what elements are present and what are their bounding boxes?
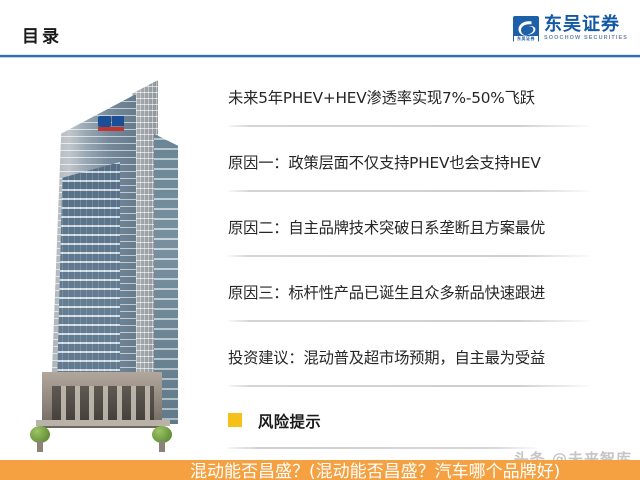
toc-item-label: 原因二：自主品牌技术突破日系垄断且方案最优 [228,216,545,238]
office-tower-graphic [42,76,182,444]
toc-item[interactable]: 原因一：政策层面不仅支持PHEV也会支持HEV [228,137,596,202]
toc-item[interactable]: 原因三：标杆性产品已诞生且众多新品快速跟进 [228,267,596,332]
logo-name-cn: 东吴证券 [544,16,628,34]
toc-item-risk-warning[interactable]: 风险提示 [228,397,596,437]
toc-item-label: 原因一：政策层面不仅支持PHEV也会支持HEV [228,151,541,173]
toc-item[interactable]: 未来5年PHEV+HEV渗透率实现7%-50%飞跃 [228,72,596,137]
toc-item-label: 未来5年PHEV+HEV渗透率实现7%-50%飞跃 [228,86,535,108]
square-bullet-icon [228,413,242,427]
toc-item[interactable]: 投资建议：混动普及超市场预期，自主最为受益 [228,332,596,397]
toc-divider [228,320,590,322]
logo-wordmark: 东吴证券 SOOCHOW SECURITIES [544,16,628,42]
header-divider [0,54,640,58]
slide-header: 目录 东吴证券 东吴证券 SOOCHOW SECURITIES [0,0,640,58]
toc-item-label: 风险提示 [258,410,321,432]
company-logo: 东吴证券 东吴证券 SOOCHOW SECURITIES [513,16,628,42]
toc-item-label: 原因三：标杆性产品已诞生且众多新品快速跟进 [228,281,545,303]
soochow-building-sign-icon [98,116,124,132]
tower-base [36,420,170,426]
toc-item-label: 投资建议：混动普及超市场预期，自主最为受益 [228,346,545,368]
tree-icon [152,426,172,452]
logo-mark-subtext: 东吴证券 [514,36,538,42]
table-of-contents: 未来5年PHEV+HEV渗透率实现7%-50%飞跃 原因一：政策层面不仅支持PH… [228,72,596,437]
toc-divider [228,255,590,257]
tree-icon [30,426,50,452]
page-title: 目录 [22,22,62,47]
footer-banner-text: 混动能否昌盛？(混动能否昌盛？汽车哪个品牌好) [190,460,560,480]
toc-item[interactable]: 原因二：自主品牌技术突破日系垄断且方案最优 [228,202,596,267]
logo-name-en: SOOCHOW SECURITIES [544,36,628,42]
soochow-swirl-icon: 东吴证券 [513,16,539,42]
footer-divider [228,447,538,449]
presentation-slide: 目录 东吴证券 东吴证券 SOOCHOW SECURITIES [0,0,640,480]
toc-divider [228,125,590,127]
footer-banner: 混动能否昌盛？(混动能否昌盛？汽车哪个品牌好) [0,460,640,480]
soochow-securities-tower-photo [0,60,210,460]
toc-divider [228,190,590,192]
toc-divider [228,385,590,387]
